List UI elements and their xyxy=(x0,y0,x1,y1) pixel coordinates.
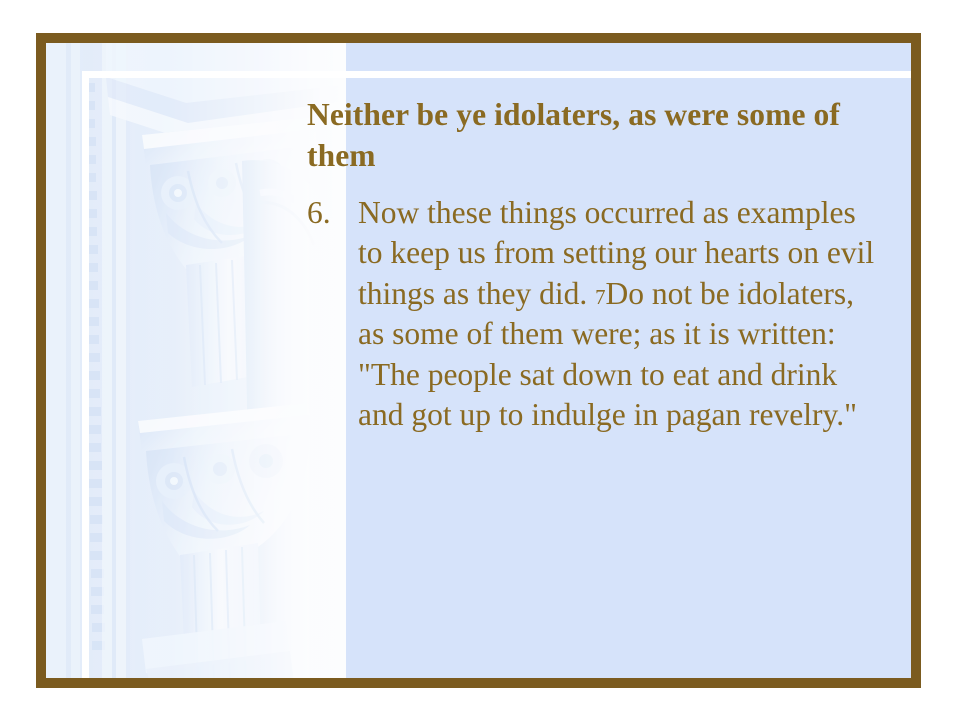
slide-canvas: Neither be ye idolaters, as were some of… xyxy=(46,43,911,678)
bullet-marker: 6. xyxy=(307,193,349,233)
column-watermark-image xyxy=(46,43,346,678)
image-fade-overlay xyxy=(46,43,346,678)
bullet-list: 6. Now these things occurred as examples… xyxy=(307,193,887,436)
slide-text-content: Neither be ye idolaters, as were some of… xyxy=(307,95,887,436)
slide-title: Neither be ye idolaters, as were some of… xyxy=(307,95,872,177)
verse-number: 7 xyxy=(595,286,605,309)
list-item: 6. Now these things occurred as examples… xyxy=(307,193,878,436)
bullet-text: Now these things occurred as examples to… xyxy=(358,193,878,436)
slide-outer-border: Neither be ye idolaters, as were some of… xyxy=(36,33,921,688)
presentation-slide: Neither be ye idolaters, as were some of… xyxy=(0,0,960,720)
